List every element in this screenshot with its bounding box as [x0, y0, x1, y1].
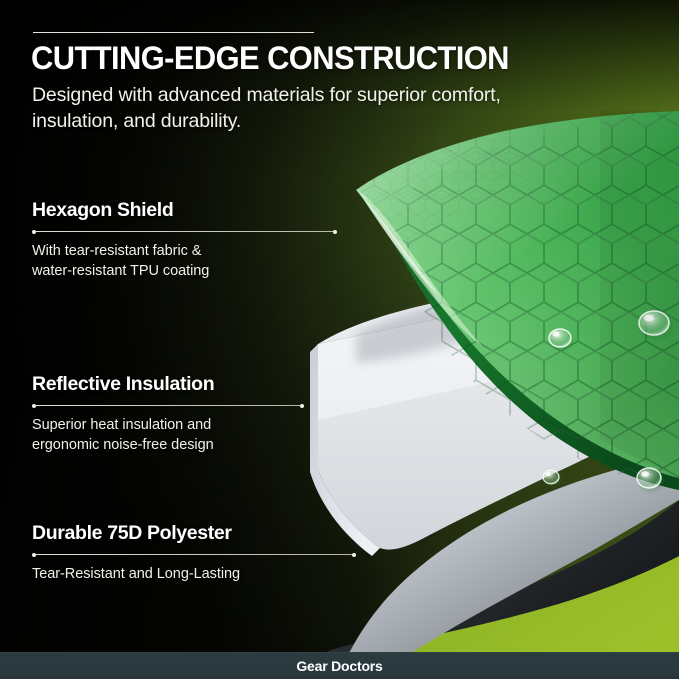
divider-dot-end — [333, 230, 337, 234]
feature-block-reflective-insulation: Reflective Insulation Superior heat insu… — [32, 372, 304, 455]
divider-dot-end — [352, 553, 356, 557]
feature-description: With tear-resistant fabric & water-resis… — [32, 242, 337, 281]
page-title: CUTTING-EDGE CONSTRUCTION — [31, 39, 509, 77]
feature-title: Hexagon Shield — [32, 198, 337, 222]
divider-line — [34, 231, 335, 232]
divider-line — [34, 405, 302, 406]
feature-divider — [32, 228, 337, 235]
feature-title: Reflective Insulation — [32, 372, 304, 396]
text-content-layer: CUTTING-EDGE CONSTRUCTION Designed with … — [0, 0, 679, 679]
feature-title: Durable 75D Polyester — [32, 521, 356, 545]
header-rule — [33, 32, 314, 33]
feature-description: Tear-Resistant and Long-Lasting — [32, 565, 356, 585]
brand-footer: Gear Doctors — [0, 652, 679, 679]
divider-dot-end — [300, 404, 304, 408]
feature-block-hexagon-shield: Hexagon Shield With tear-resistant fabri… — [32, 198, 337, 281]
feature-divider — [32, 402, 304, 409]
divider-line — [34, 554, 354, 555]
page-subtitle: Designed with advanced materials for sup… — [32, 82, 592, 134]
infographic-canvas: CUTTING-EDGE CONSTRUCTION Designed with … — [0, 0, 679, 679]
feature-description: Superior heat insulation and ergonomic n… — [32, 416, 304, 455]
feature-divider — [32, 551, 356, 558]
brand-name: Gear Doctors — [296, 658, 382, 674]
feature-block-durable-polyester: Durable 75D Polyester Tear-Resistant and… — [32, 521, 356, 585]
